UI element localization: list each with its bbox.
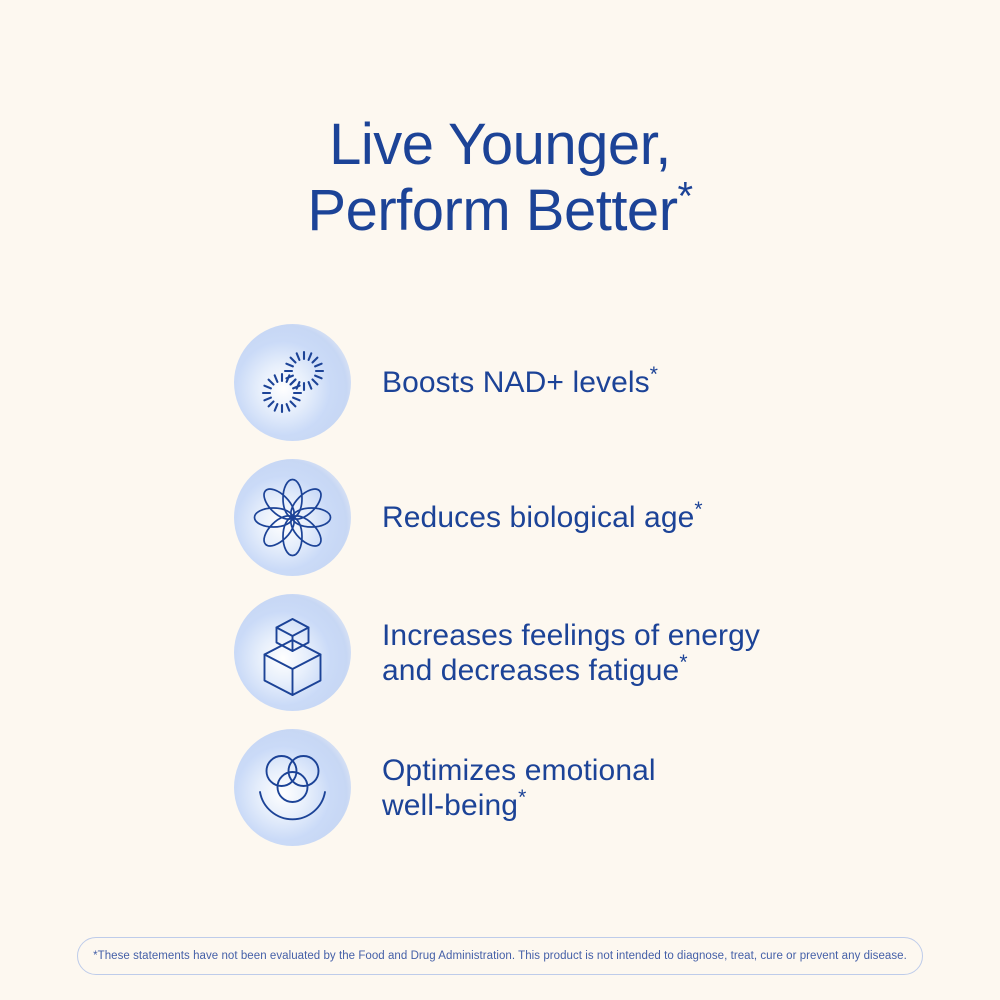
flower-rosette-icon xyxy=(240,465,345,570)
headline-line-2-text: Perform Better xyxy=(307,178,677,243)
headline-asterisk: * xyxy=(678,175,693,219)
list-item: Reduces biological age* xyxy=(240,450,940,585)
benefit-text-2: Reduces biological age xyxy=(382,501,694,534)
benefit-text-3: Increases feelings of energy and decreas… xyxy=(382,619,760,687)
list-item-label: Boosts NAD+ levels* xyxy=(382,365,658,400)
benefit-icon-container xyxy=(240,465,345,570)
benefit-icon-container xyxy=(240,735,345,840)
stacked-cubes-icon xyxy=(240,600,345,705)
list-item-label: Reduces biological age* xyxy=(382,500,703,535)
headline-line-1: Live Younger, xyxy=(0,112,1000,178)
list-item: Boosts NAD+ levels* xyxy=(240,315,940,450)
benefit-asterisk-3: * xyxy=(679,651,687,674)
benefit-icon-container xyxy=(240,600,345,705)
benefit-icon-container xyxy=(240,330,345,435)
list-item: Optimizes emotional well-being* xyxy=(240,720,940,855)
disclaimer-text: *These statements have not been evaluate… xyxy=(93,949,907,963)
benefit-text-1: Boosts NAD+ levels xyxy=(382,366,650,399)
list-item: Increases feelings of energy and decreas… xyxy=(240,585,940,720)
list-item-label: Optimizes emotional well-being* xyxy=(382,753,656,823)
benefit-asterisk-2: * xyxy=(694,498,702,521)
promo-graphic: Live Younger, Perform Better* xyxy=(0,0,1000,1000)
benefits-list: Boosts NAD+ levels* xyxy=(240,315,940,855)
benefit-asterisk-1: * xyxy=(650,363,658,386)
headline-line-2: Perform Better* xyxy=(0,178,1000,244)
benefit-asterisk-4: * xyxy=(518,786,526,809)
disclaimer-pill: *These statements have not been evaluate… xyxy=(77,937,923,975)
nad-sunburst-icon xyxy=(240,330,345,435)
venn-smile-icon xyxy=(240,735,345,840)
list-item-label: Increases feelings of energy and decreas… xyxy=(382,618,760,688)
page-title: Live Younger, Perform Better* xyxy=(0,112,1000,244)
